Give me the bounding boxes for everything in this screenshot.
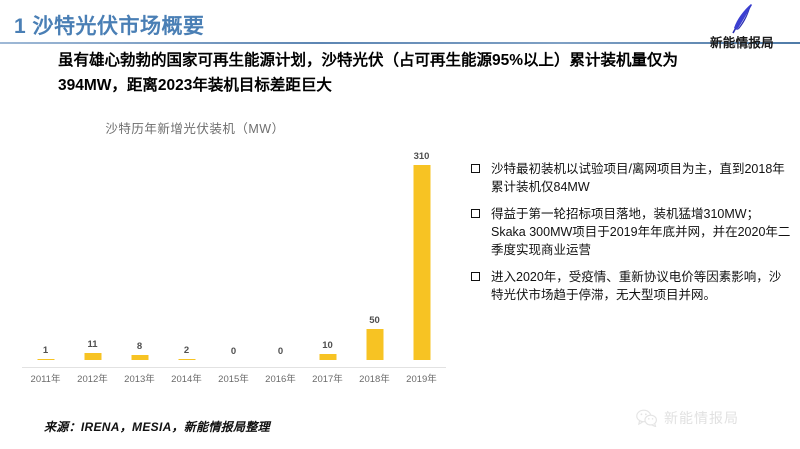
- chart-bar: [366, 329, 383, 361]
- hollow-square-bullet-icon: [471, 164, 480, 173]
- chart-bar-value: 2: [163, 345, 210, 356]
- hollow-square-bullet-icon: [471, 209, 480, 218]
- bar-chart: 沙特历年新增光伏装机（MW） 11182001050310 2011年2012年…: [10, 118, 460, 388]
- chart-bar: [178, 359, 195, 361]
- chart-title: 沙特历年新增光伏装机（MW）: [10, 118, 380, 137]
- chart-bar-slot: 2: [163, 152, 210, 360]
- chart-bar-slot: 10: [304, 152, 351, 360]
- chart-bar-value: 8: [116, 341, 163, 352]
- chart-plot-area: 11182001050310: [22, 152, 452, 360]
- chart-bar: [413, 165, 430, 360]
- chart-bar-value: 0: [210, 346, 257, 357]
- chart-x-tick-label: 2011年: [22, 371, 69, 385]
- chart-bar-slot: 0: [210, 152, 257, 360]
- chart-bar: [37, 359, 54, 361]
- chart-x-tick-label: 2019年: [398, 371, 445, 385]
- brand-logo: 新能情报局 NEIA: [690, 2, 794, 50]
- chart-bar-value: 11: [69, 339, 116, 350]
- list-item: 沙特最初装机以试验项目/离网项目为主，直到2018年累计装机仅84MW: [470, 160, 792, 196]
- slide-header: 1 沙特光伏市场概要: [0, 0, 800, 46]
- page-title: 1 沙特光伏市场概要: [14, 10, 205, 40]
- list-item: 得益于第一轮招标项目落地，装机猛增310MW；Skaka 300MW项目于201…: [470, 205, 792, 259]
- chart-bar-slot: 11: [69, 152, 116, 360]
- chart-x-tick-label: 2015年: [210, 371, 257, 385]
- chart-bar-slot: 50: [351, 152, 398, 360]
- list-item: 进入2020年，受疫情、重新协议电价等因素影响，沙特光伏市场趋于停滞，无大型项目…: [470, 268, 792, 304]
- chart-bar-slot: 0: [257, 152, 304, 360]
- chart-bar: [84, 353, 101, 360]
- chart-bar: [319, 354, 336, 360]
- headline-text: 虽有雄心勃勃的国家可再生能源计划，沙特光伏（占可再生能源95%以上）累计装机量仅…: [58, 48, 728, 98]
- feather-quill-icon: [724, 2, 760, 34]
- chart-x-tick-label: 2014年: [163, 371, 210, 385]
- slide-root: 1 沙特光伏市场概要 新能情报局 NEIA 虽有雄心勃勃的国家可再生能源计划，沙…: [0, 0, 800, 449]
- chart-x-tick-label: 2018年: [351, 371, 398, 385]
- bullet-list: 沙特最初装机以试验项目/离网项目为主，直到2018年累计装机仅84MW得益于第一…: [470, 160, 792, 313]
- list-item-text: 得益于第一轮招标项目落地，装机猛增310MW；Skaka 300MW项目于201…: [491, 207, 790, 257]
- wechat-icon: [636, 409, 658, 427]
- list-item-text: 进入2020年，受疫情、重新协议电价等因素影响，沙特光伏市场趋于停滞，无大型项目…: [491, 270, 781, 302]
- chart-x-tick-label: 2017年: [304, 371, 351, 385]
- watermark-label: 新能情报局: [664, 408, 739, 428]
- chart-bar: [131, 355, 148, 360]
- chart-x-axis: [22, 367, 446, 368]
- chart-bar-value: 1: [22, 345, 69, 356]
- source-note: 来源：IRENA，MESIA，新能情报局整理: [44, 418, 270, 435]
- chart-x-tick-label: 2016年: [257, 371, 304, 385]
- chart-bar-slot: 1: [22, 152, 69, 360]
- hollow-square-bullet-icon: [471, 272, 480, 281]
- wechat-watermark: 新能情报局: [636, 408, 739, 428]
- header-divider: [0, 42, 800, 44]
- chart-bar-value: 310: [398, 151, 445, 162]
- chart-bar-value: 10: [304, 340, 351, 351]
- chart-bar-slot: 310: [398, 152, 445, 360]
- chart-bar-value: 0: [257, 346, 304, 357]
- chart-x-tick-label: 2012年: [69, 371, 116, 385]
- chart-x-tick-label: 2013年: [116, 371, 163, 385]
- chart-bar-slot: 8: [116, 152, 163, 360]
- chart-bar-value: 50: [351, 315, 398, 326]
- list-item-text: 沙特最初装机以试验项目/离网项目为主，直到2018年累计装机仅84MW: [491, 162, 785, 194]
